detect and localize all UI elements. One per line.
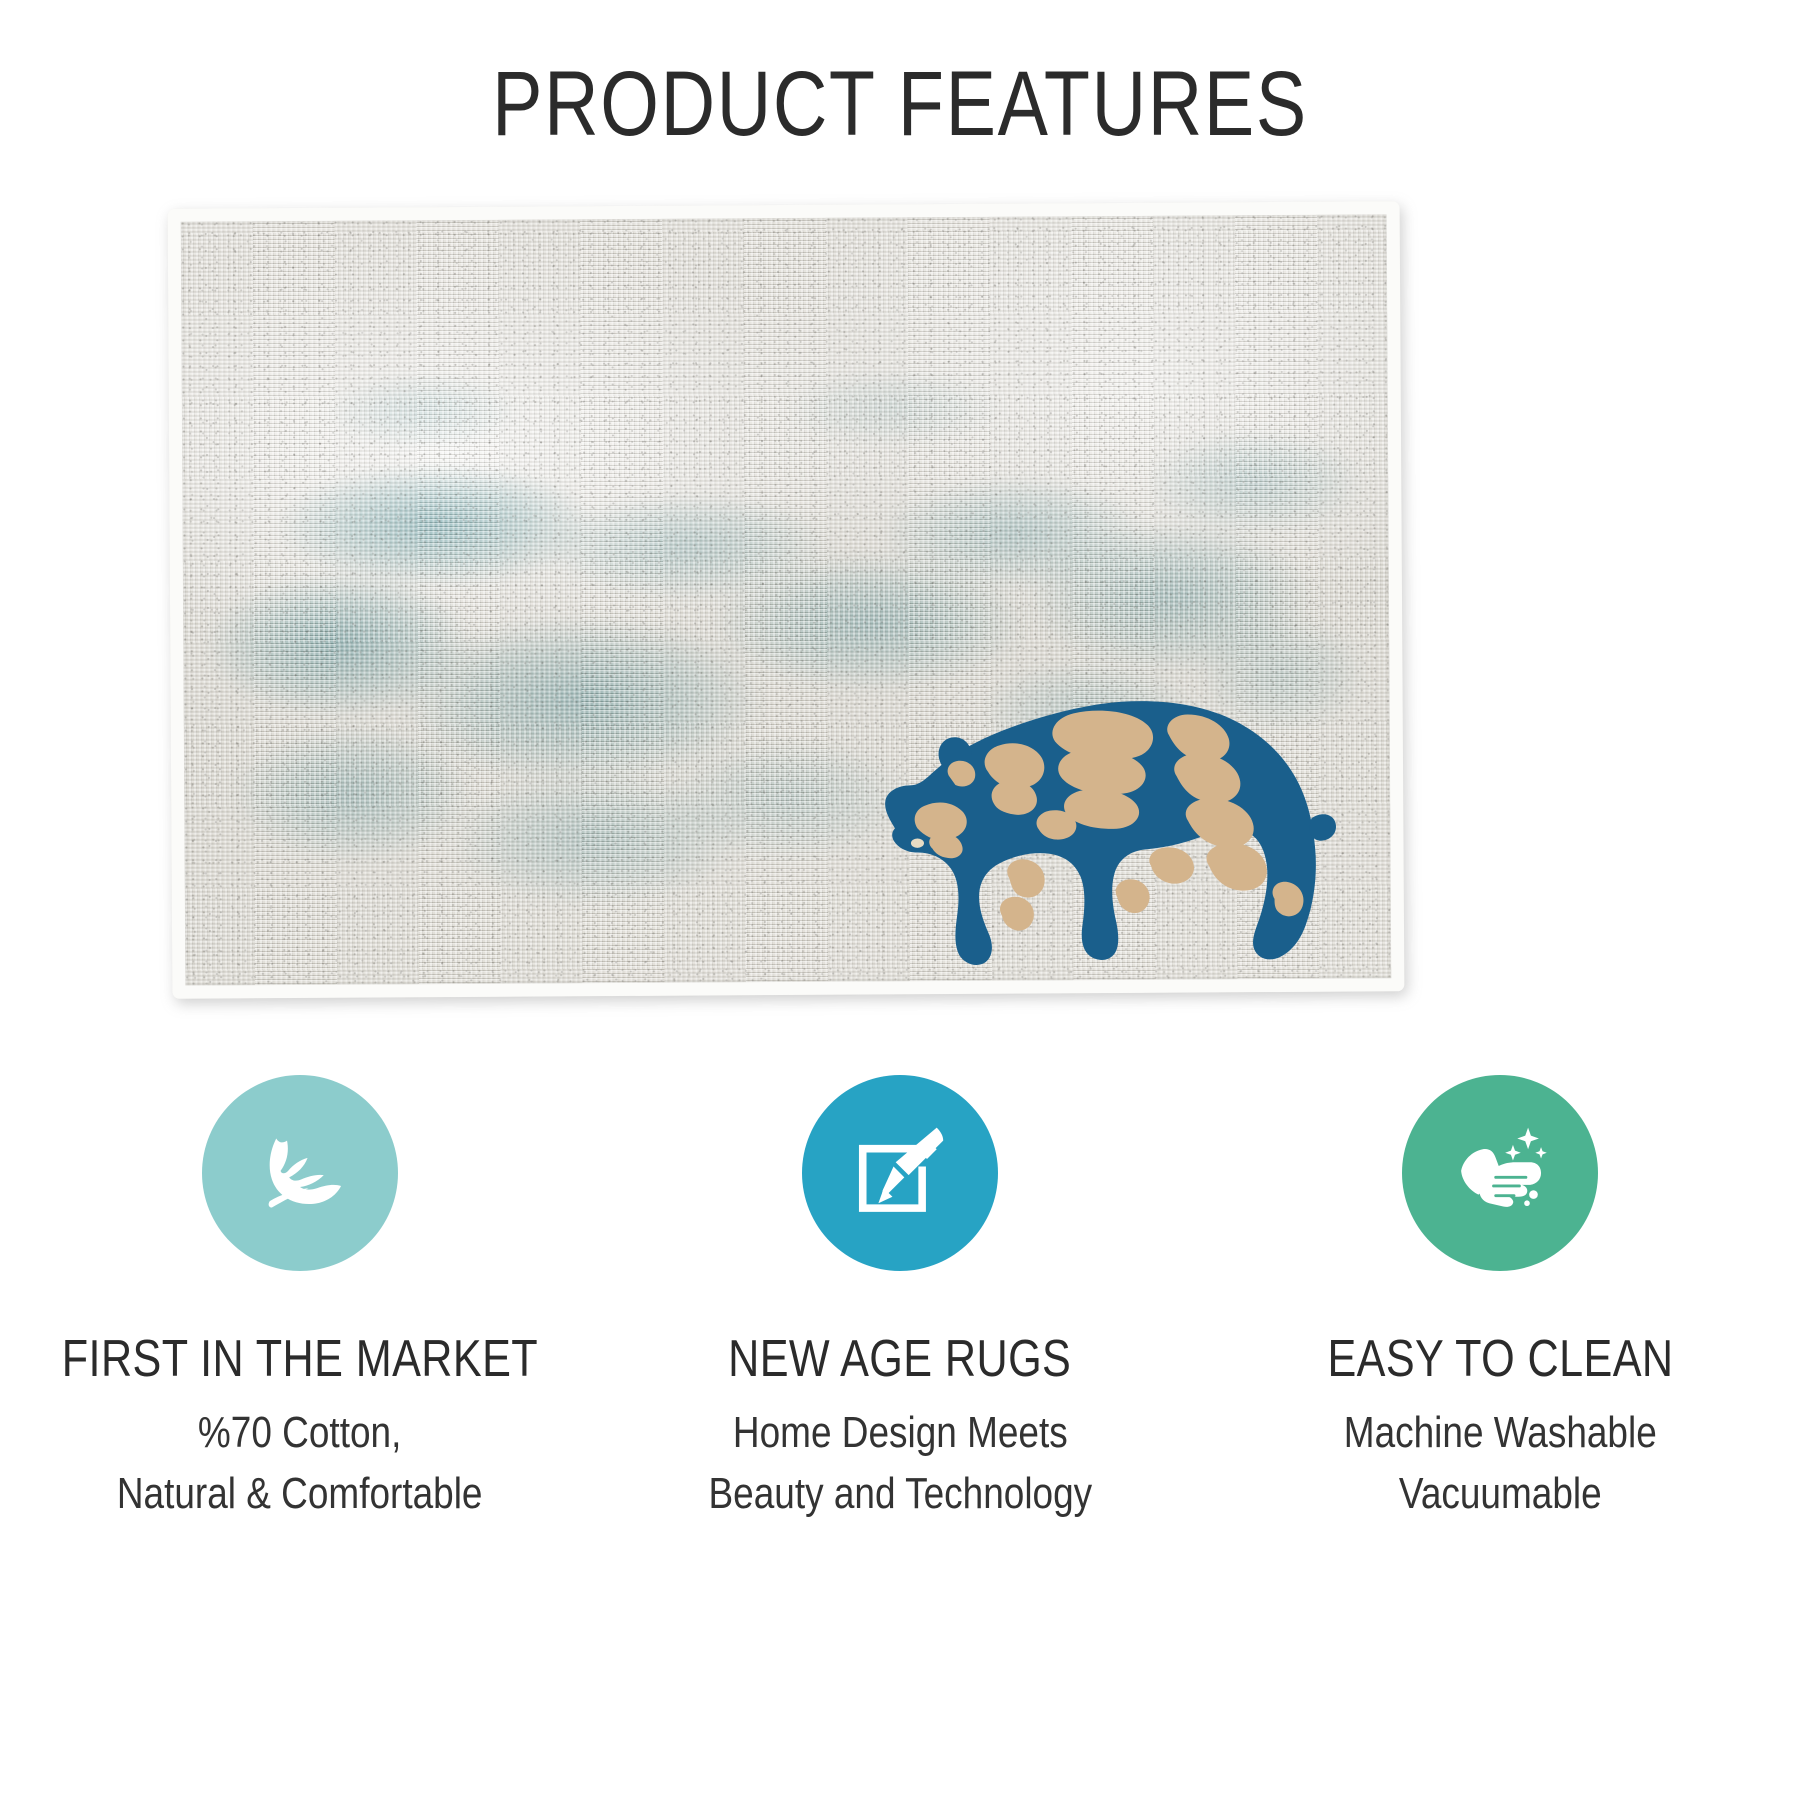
feature-subtitle: %70 Cotton, Natural & Comfortable xyxy=(117,1403,483,1524)
page-title: PRODUCT FEATURES xyxy=(162,52,1638,157)
feature-subtitle-line: %70 Cotton, xyxy=(117,1403,483,1464)
feature-subtitle-line: Vacuumable xyxy=(1344,1464,1657,1525)
rug-abrash-patch xyxy=(232,724,474,863)
rug-abrash-patch xyxy=(279,464,593,588)
rug-abrash-patch xyxy=(326,372,519,450)
feature-new-age-rugs: NEW AGE RUGS Home Design Meets Beauty an… xyxy=(600,1075,1200,1524)
feather-icon-circle xyxy=(202,1075,398,1271)
design-pen-square-icon xyxy=(846,1119,954,1227)
feature-subtitle: Home Design Meets Beauty and Technology xyxy=(708,1403,1092,1524)
bear-icon xyxy=(810,642,1379,982)
feature-title: NEW AGE RUGS xyxy=(728,1329,1071,1389)
bear-motif xyxy=(810,642,1379,982)
feature-subtitle-line: Home Design Meets xyxy=(708,1403,1092,1464)
feature-title: FIRST IN THE MARKET xyxy=(62,1329,538,1389)
feather-icon xyxy=(246,1119,354,1227)
product-image xyxy=(170,205,1402,995)
cleaning-hand-sparkle-icon xyxy=(1446,1119,1554,1227)
rug-abrash-patch xyxy=(1147,428,1365,536)
feature-subtitle-line: Natural & Comfortable xyxy=(117,1464,483,1525)
feature-first-in-the-market: FIRST IN THE MARKET %70 Cotton, Natural … xyxy=(0,1075,600,1524)
product-features-infographic: PRODUCT FEATURES xyxy=(0,0,1800,1800)
cleaning-hand-sparkle-icon-circle xyxy=(1402,1075,1598,1271)
rug-photo xyxy=(168,201,1405,999)
feature-subtitle-line: Machine Washable xyxy=(1344,1403,1657,1464)
rug-abrash-patch xyxy=(785,369,1003,447)
feature-subtitle-line: Beauty and Technology xyxy=(708,1464,1092,1525)
feature-subtitle: Machine Washable Vacuumable xyxy=(1344,1403,1657,1524)
feature-list: FIRST IN THE MARKET %70 Cotton, Natural … xyxy=(0,1075,1800,1524)
feature-easy-to-clean: EASY TO CLEAN Machine Washable Vacuumabl… xyxy=(1200,1075,1800,1524)
rug-woven-field xyxy=(181,214,1392,985)
design-pen-square-icon-circle xyxy=(802,1075,998,1271)
feature-title: EASY TO CLEAN xyxy=(1327,1329,1673,1389)
